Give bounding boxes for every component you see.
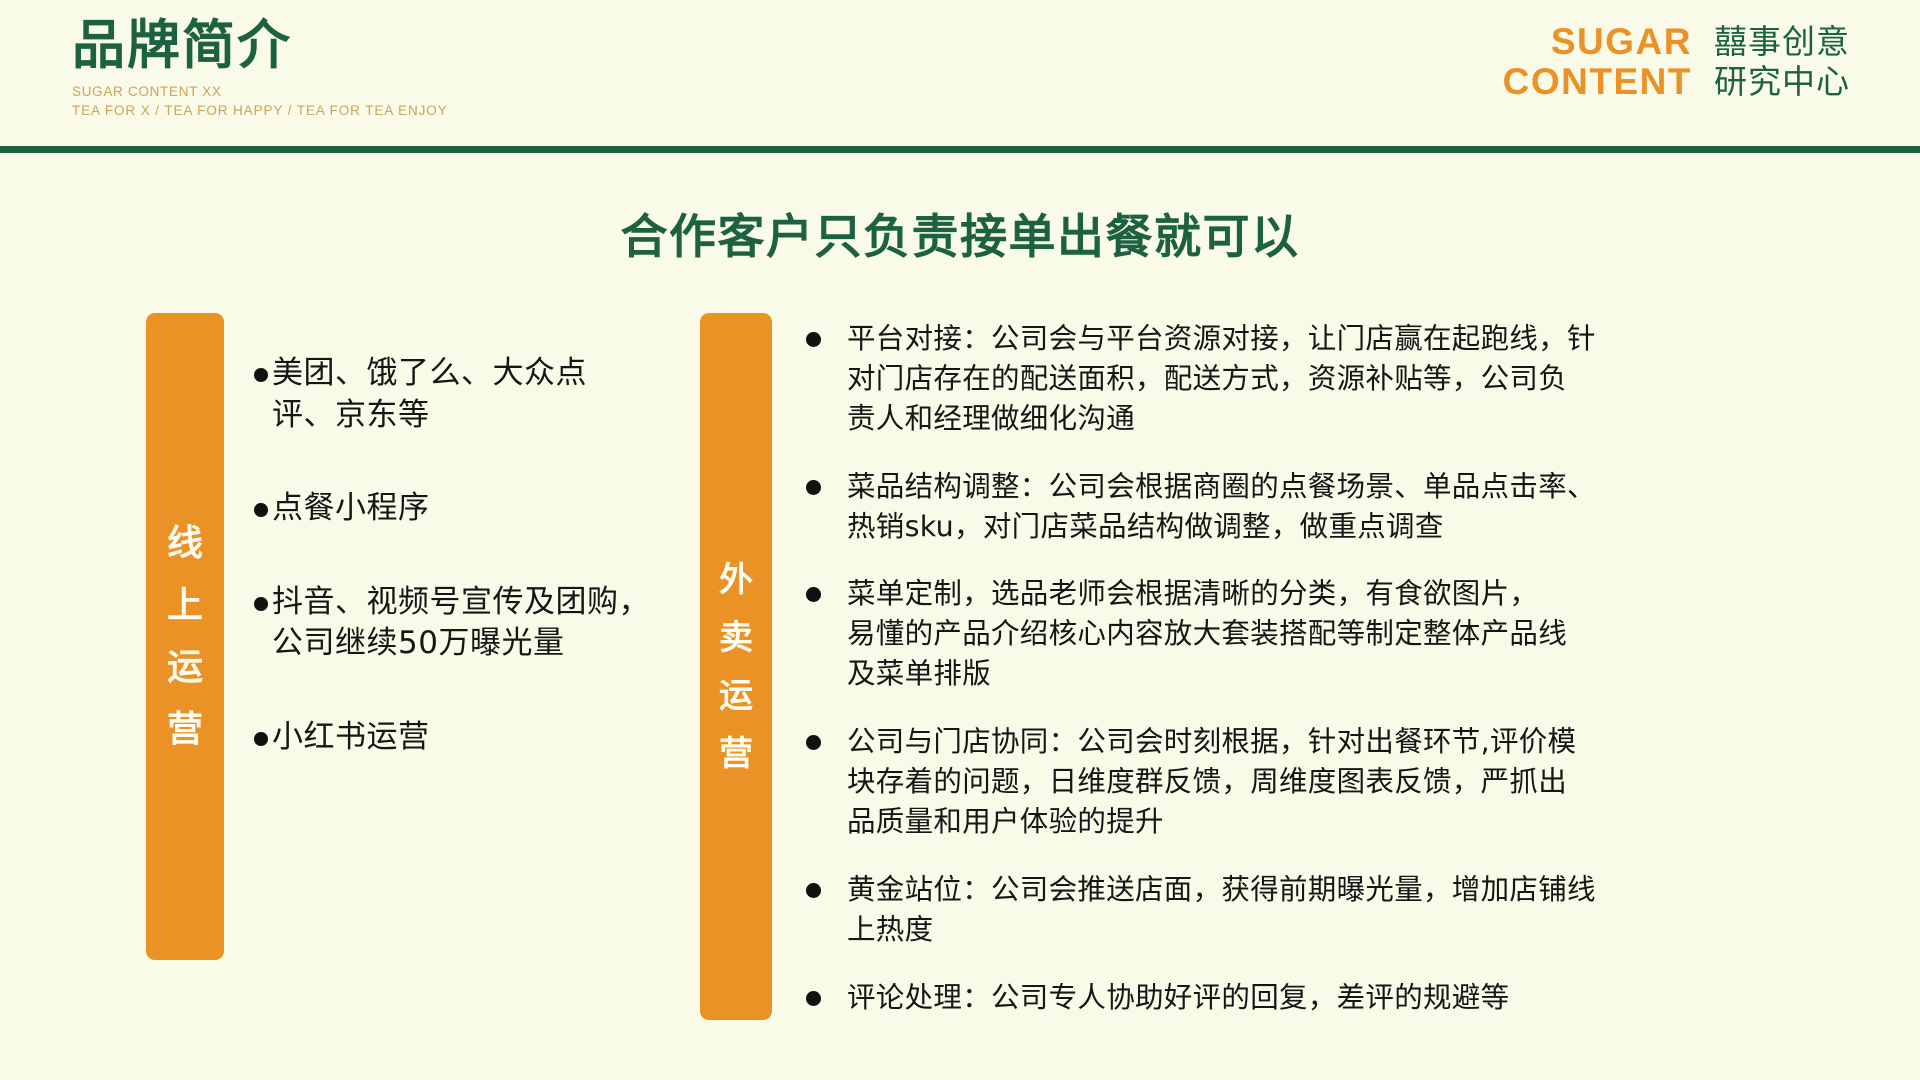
bullet-dot-icon [806, 991, 821, 1006]
right-column: 外 卖 运 营 平台对接：公司会与平台资源对接，让门店赢在起跑线，针 对门店存在… [700, 313, 1896, 1020]
right-label-char-0: 外 [719, 563, 753, 597]
left-column: 线 上 运 营 美团、饿了么、大众点 评、京东等 点餐小程序 抖音、视频号宣传及… [146, 313, 684, 960]
list-item: 美团、饿了么、大众点 评、京东等 [254, 353, 684, 436]
list-item-text: 黄金站位：公司会推送店面，获得前期曝光量，增加店铺线 上热度 [847, 870, 1896, 950]
right-label-char-3: 营 [719, 737, 753, 771]
logo-chinese-text: 囍事创意 研究中心 [1714, 22, 1850, 101]
right-column-label-bar: 外 卖 运 营 [700, 313, 772, 1020]
left-label-char-2: 运 [167, 650, 203, 686]
brand-subtitle-line-1: SUGAR CONTENT XX [72, 84, 448, 99]
list-item: 评论处理：公司专人协助好评的回复，差评的规避等 [806, 978, 1896, 1018]
logo-chinese-line-1: 囍事创意 [1714, 22, 1850, 62]
bullet-dot-icon [806, 735, 821, 750]
list-item-text: 菜单定制，选品老师会根据清晰的分类，有食欲图片， 易懂的产品介绍核心内容放大套装… [847, 574, 1896, 694]
list-item: 小红书运营 [254, 717, 684, 759]
bullet-dot-icon [254, 368, 268, 382]
left-label-char-3: 营 [167, 712, 203, 748]
list-item-text: 点餐小程序 [272, 488, 684, 530]
list-item: 菜品结构调整：公司会根据商圈的点餐场景、单品点击率、 热销sku，对门店菜品结构… [806, 467, 1896, 547]
page-header: 品牌简介 SUGAR CONTENT XX TEA FOR X / TEA FO… [0, 0, 1920, 150]
right-label-char-2: 运 [719, 679, 753, 713]
list-item-text: 平台对接：公司会与平台资源对接，让门店赢在起跑线，针 对门店存在的配送面积，配送… [847, 319, 1896, 439]
list-item: 菜单定制，选品老师会根据清晰的分类，有食欲图片， 易懂的产品介绍核心内容放大套装… [806, 574, 1896, 694]
list-item-text: 美团、饿了么、大众点 评、京东等 [272, 353, 684, 436]
right-bullet-list: 平台对接：公司会与平台资源对接，让门店赢在起跑线，针 对门店存在的配送面积，配送… [806, 313, 1896, 1017]
brand-block: 品牌简介 SUGAR CONTENT XX TEA FOR X / TEA FO… [72, 18, 448, 118]
bullet-dot-icon [806, 883, 821, 898]
list-item: 点餐小程序 [254, 488, 684, 530]
bullet-dot-icon [806, 480, 821, 495]
logo-english-line-2: CONTENT [1503, 62, 1692, 102]
left-label-char-0: 线 [167, 526, 203, 562]
slide-headline: 合作客户只负责接单出餐就可以 [0, 198, 1920, 267]
list-item: 黄金站位：公司会推送店面，获得前期曝光量，增加店铺线 上热度 [806, 870, 1896, 950]
list-item-text: 抖音、视频号宣传及团购， 公司继续50万曝光量 [272, 582, 684, 665]
logo-english-line-1: SUGAR [1503, 22, 1692, 62]
left-bullet-list: 美团、饿了么、大众点 评、京东等 点餐小程序 抖音、视频号宣传及团购， 公司继续… [254, 313, 684, 758]
bullet-dot-icon [254, 732, 268, 746]
list-item-text: 评论处理：公司专人协助好评的回复，差评的规避等 [847, 978, 1896, 1018]
list-item: 公司与门店协同：公司会时刻根据，针对出餐环节,评价模 块存着的问题，日维度群反馈… [806, 722, 1896, 842]
bullet-dot-icon [254, 597, 268, 611]
bullet-dot-icon [254, 503, 268, 517]
brand-subtitle-line-2: TEA FOR X / TEA FOR HAPPY / TEA FOR TEA … [72, 103, 448, 118]
company-logo: SUGAR CONTENT 囍事创意 研究中心 [1503, 22, 1850, 101]
bullet-dot-icon [806, 332, 821, 347]
list-item-text: 公司与门店协同：公司会时刻根据，针对出餐环节,评价模 块存着的问题，日维度群反馈… [847, 722, 1896, 842]
page-title: 品牌简介 [72, 18, 448, 74]
right-label-char-1: 卖 [719, 621, 753, 655]
list-item: 平台对接：公司会与平台资源对接，让门店赢在起跑线，针 对门店存在的配送面积，配送… [806, 319, 1896, 439]
logo-chinese-line-2: 研究中心 [1714, 62, 1850, 102]
header-divider-rule [0, 146, 1920, 153]
logo-english-text: SUGAR CONTENT [1503, 22, 1692, 101]
list-item-text: 小红书运营 [272, 717, 684, 759]
list-item-text: 菜品结构调整：公司会根据商圈的点餐场景、单品点击率、 热销sku，对门店菜品结构… [847, 467, 1896, 547]
list-item: 抖音、视频号宣传及团购， 公司继续50万曝光量 [254, 582, 684, 665]
left-column-label-bar: 线 上 运 营 [146, 313, 224, 960]
bullet-dot-icon [806, 587, 821, 602]
left-label-char-1: 上 [167, 588, 203, 624]
